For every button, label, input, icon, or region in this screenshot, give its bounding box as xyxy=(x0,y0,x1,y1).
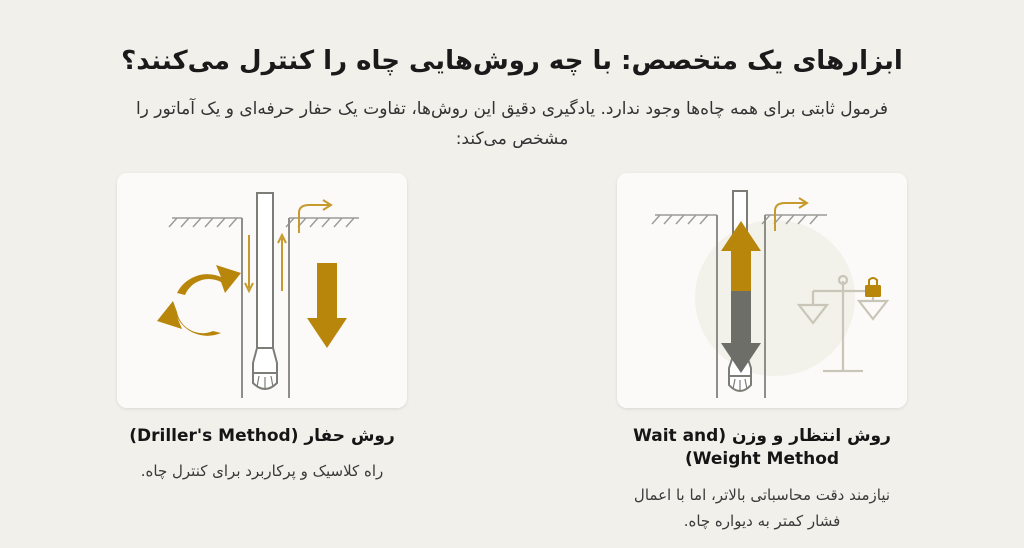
method-card-drillers: روش حفار (Driller's Method) راه کلاسیک و… xyxy=(112,173,412,535)
methods-card-list: روش حفار (Driller's Method) راه کلاسیک و… xyxy=(0,173,1024,535)
drilling-rig-circular-arrows-diagram-icon xyxy=(117,173,407,408)
page-title: ابزارهای یک متخصص: با چه روش‌هایی چاه را… xyxy=(0,0,1024,79)
method-card-description: نیازمند دقت محاسباتی بالاتر، اما با اعما… xyxy=(617,483,907,534)
method-card-wait-and-weight: روش انتظار و وزن (Wait and Weight Method… xyxy=(612,173,912,535)
method-card-description: راه کلاسیک و پرکاربرد برای کنترل چاه. xyxy=(117,459,407,485)
page-root: ابزارهای یک متخصص: با چه روش‌هایی چاه را… xyxy=(0,0,1024,548)
method-card-title: روش حفار (Driller's Method) xyxy=(129,425,395,449)
method-card-title: روش انتظار و وزن (Wait and Weight Method… xyxy=(612,425,912,473)
drilling-rig-up-down-arrows-balance-scale-diagram-icon xyxy=(617,173,907,408)
page-subtitle: فرمول ثابتی برای همه چاه‌ها وجود ندارد. … xyxy=(0,79,1024,155)
